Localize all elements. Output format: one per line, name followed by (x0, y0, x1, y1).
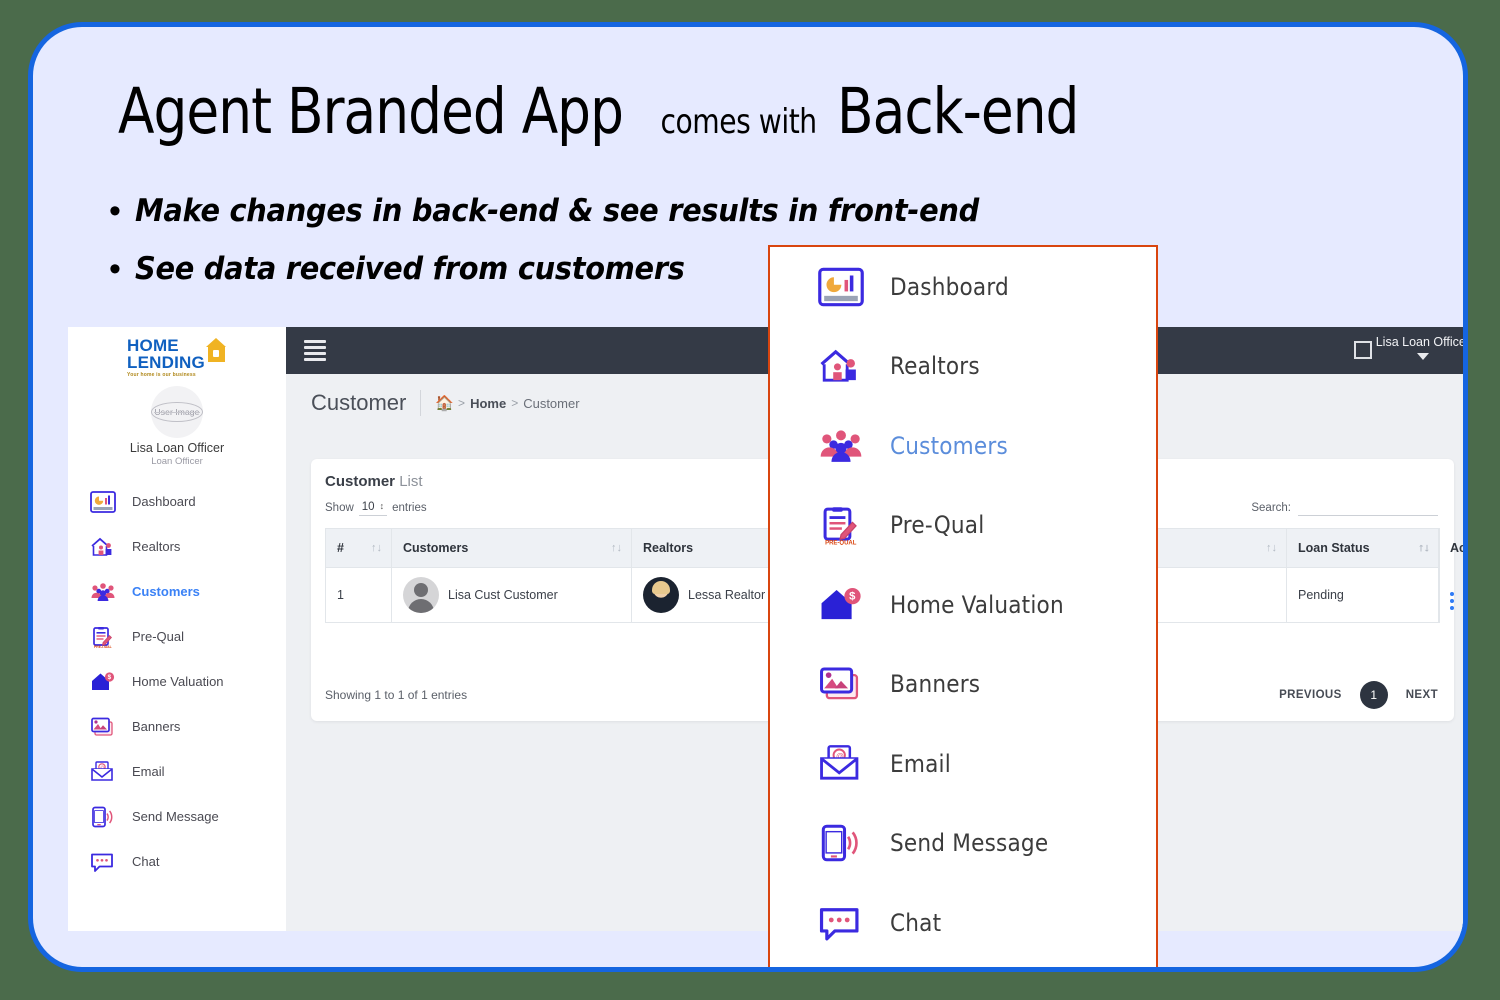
column-label: Realtors (643, 541, 693, 555)
realtors-icon (818, 346, 864, 386)
cell-index: 1 (326, 568, 392, 623)
pre-qual-icon: PRE-QUAL (90, 626, 116, 648)
fullscreen-icon[interactable] (1354, 341, 1372, 359)
pagination-page-1[interactable]: 1 (1360, 681, 1388, 709)
menu-overlay-panel: Dashboard Realtors Customers PRE-QUAL Pr… (768, 245, 1158, 972)
logo-line1: HOME (127, 337, 205, 354)
headline-part2: comes with (655, 102, 822, 142)
overlay-item-label: Chat (890, 909, 941, 937)
customers-icon (90, 581, 116, 603)
realtors-icon (90, 536, 116, 558)
column-label: Loan Status (1298, 541, 1370, 555)
column-label: Action (1450, 541, 1468, 555)
search-label: Search: (1251, 502, 1291, 514)
divider (420, 390, 421, 416)
overlay-item-label: Pre-Qual (890, 511, 984, 539)
topbar-user-menu[interactable]: Lisa Loan Officer (1376, 335, 1468, 360)
cell-customer: Lisa Cust Customer (392, 568, 632, 623)
overlay-item-customers[interactable]: Customers (770, 406, 1156, 486)
show-entries-prefix: Show (325, 502, 354, 514)
customers-icon (818, 426, 864, 466)
breadcrumb-item-home[interactable]: Home (470, 396, 506, 411)
sidebar: HOME LENDING Your home is our business U… (68, 327, 286, 931)
headline-part1: Agent Branded App (118, 75, 623, 148)
house-icon (206, 338, 227, 362)
logo-tagline: Your home is our business (127, 373, 205, 378)
breadcrumb-separator: > (511, 396, 518, 410)
topbar-user-name: Lisa Loan Officer (1376, 335, 1468, 349)
show-entries-control: Show 10 ↕ entries (325, 501, 427, 516)
sidebar-item-chat[interactable]: Chat (68, 839, 286, 884)
overlay-item-label: Email (890, 750, 951, 778)
chevron-updown-icon: ↕ (380, 502, 385, 511)
column-label: # (337, 541, 344, 555)
customer-name: Lisa Cust Customer (448, 588, 558, 602)
sidebar-item-email[interactable]: @ Email (68, 749, 286, 794)
bullet-marker: • (95, 247, 135, 291)
profile-role: Loan Officer (68, 456, 286, 467)
profile-name: Lisa Loan Officer (68, 441, 286, 455)
headline: Agent Branded Appcomes withBack-end (118, 75, 1318, 153)
overlay-item-send-message[interactable]: Send Message (770, 804, 1156, 884)
sidebar-item-label: Chat (132, 854, 159, 869)
sidebar-item-send-message[interactable]: Send Message (68, 794, 286, 839)
sidebar-item-label: Customers (132, 584, 200, 599)
customer-avatar (403, 577, 439, 613)
sidebar-profile: User Image Lisa Loan Officer Loan Office… (68, 386, 286, 467)
overlay-item-pre-qual[interactable]: PRE-QUAL Pre-Qual (770, 486, 1156, 566)
home-icon[interactable]: 🏠 (435, 394, 454, 412)
card-title-light: List (399, 473, 422, 490)
sort-icon: ↑↓ (611, 542, 622, 554)
cell-loan-status: Pending (1287, 568, 1439, 623)
dashboard-icon (90, 491, 116, 513)
overlay-item-realtors[interactable]: Realtors (770, 327, 1156, 407)
show-entries-suffix: entries (392, 502, 427, 514)
overlay-item-email[interactable]: @ Email (770, 724, 1156, 804)
page-title: Customer (311, 390, 406, 416)
chevron-down-icon (1417, 353, 1429, 360)
send-message-icon (90, 806, 116, 828)
headline-part3: Back-end (837, 75, 1078, 148)
sort-icon: ↑↓ (1266, 542, 1277, 554)
bullet-text: Make changes in back-end & see results i… (135, 189, 979, 233)
sidebar-item-label: Realtors (132, 539, 180, 554)
overlay-item-label: Send Message (890, 829, 1048, 857)
overlay-item-label: Customers (890, 432, 1008, 460)
brand-logo[interactable]: HOME LENDING Your home is our business (68, 327, 286, 378)
sidebar-item-dashboard[interactable]: Dashboard (68, 479, 286, 524)
home-valuation-icon: $ (818, 585, 864, 625)
entries-per-page-value: 10 (362, 501, 375, 513)
avatar[interactable]: User Image (151, 386, 203, 438)
breadcrumb-item-customer: Customer (523, 396, 579, 411)
realtor-avatar (643, 577, 679, 613)
overlay-item-label: Home Valuation (890, 591, 1064, 619)
column-header-loan-status[interactable]: Loan Status↑↓ (1287, 529, 1439, 568)
banners-icon (90, 716, 116, 738)
column-header-customers[interactable]: Customers↑↓ (392, 529, 632, 568)
pagination: PREVIOUS 1 NEXT (1279, 681, 1438, 709)
send-message-icon (818, 823, 864, 863)
column-label: Customers (403, 541, 468, 555)
sidebar-item-label: Dashboard (132, 494, 196, 509)
realtor-name: Lessa Realtor (688, 588, 765, 602)
sidebar-item-home-valuation[interactable]: $ Home Valuation (68, 659, 286, 704)
sidebar-item-label: Banners (132, 719, 180, 734)
sidebar-nav: Dashboard Realtors Customers (68, 479, 286, 884)
overlay-item-dashboard[interactable]: Dashboard (770, 247, 1156, 327)
banners-icon (818, 664, 864, 704)
chat-icon (818, 903, 864, 943)
showing-entries-text: Showing 1 to 1 of 1 entries (325, 688, 467, 702)
search-input[interactable] (1298, 500, 1438, 516)
svg-text:$: $ (108, 674, 112, 681)
column-header-action[interactable]: Action↑↓ (1439, 529, 1440, 568)
bullet-text: See data received from customers (135, 247, 685, 291)
sidebar-item-realtors[interactable]: Realtors (68, 524, 286, 569)
pagination-previous[interactable]: PREVIOUS (1279, 689, 1342, 701)
bullet-item: • Make changes in back-end & see results… (95, 189, 1175, 233)
svg-text:PRE-QUAL: PRE-QUAL (825, 541, 857, 546)
overlay-item-home-valuation[interactable]: $ Home Valuation (770, 565, 1156, 645)
email-icon: @ (818, 744, 864, 784)
breadcrumb-separator: > (458, 396, 465, 410)
chat-icon (90, 851, 116, 873)
svg-text:PRE-QUAL: PRE-QUAL (94, 645, 112, 648)
overlay-item-label: Dashboard (890, 273, 1009, 301)
overlay-item-chat[interactable]: Chat (770, 883, 1156, 963)
cell-action (1439, 568, 1440, 623)
column-header-index[interactable]: #↑↓ (326, 529, 392, 568)
hamburger-icon[interactable] (304, 340, 326, 364)
overlay-item-label: Realtors (890, 352, 980, 380)
slide-frame: Agent Branded Appcomes withBack-end • Ma… (28, 22, 1468, 972)
overlay-item-label: Banners (890, 670, 980, 698)
home-valuation-icon: $ (90, 671, 116, 693)
sidebar-item-label: Home Valuation (132, 674, 224, 689)
pagination-next[interactable]: NEXT (1406, 689, 1438, 701)
sidebar-item-banners[interactable]: Banners (68, 704, 286, 749)
dashboard-icon (818, 267, 864, 307)
sidebar-item-customers[interactable]: Customers (68, 569, 286, 614)
sort-icon: ↑↓ (1419, 542, 1430, 554)
pre-qual-icon: PRE-QUAL (818, 505, 864, 545)
search-control: Search: (1251, 500, 1438, 516)
svg-text:$: $ (849, 590, 856, 602)
email-icon: @ (90, 761, 116, 783)
sidebar-item-label: Send Message (132, 809, 219, 824)
logo-line2: LENDING (127, 354, 205, 371)
overlay-item-banners[interactable]: Banners (770, 645, 1156, 725)
bullet-marker: • (95, 189, 135, 233)
sort-icon: ↑↓ (371, 542, 382, 554)
sidebar-item-label: Pre-Qual (132, 629, 184, 644)
sidebar-item-label: Email (132, 764, 165, 779)
card-title-bold: Customer (325, 473, 395, 490)
entries-per-page-select[interactable]: 10 ↕ (359, 501, 387, 516)
sidebar-item-pre-qual[interactable]: PRE-QUAL Pre-Qual (68, 614, 286, 659)
